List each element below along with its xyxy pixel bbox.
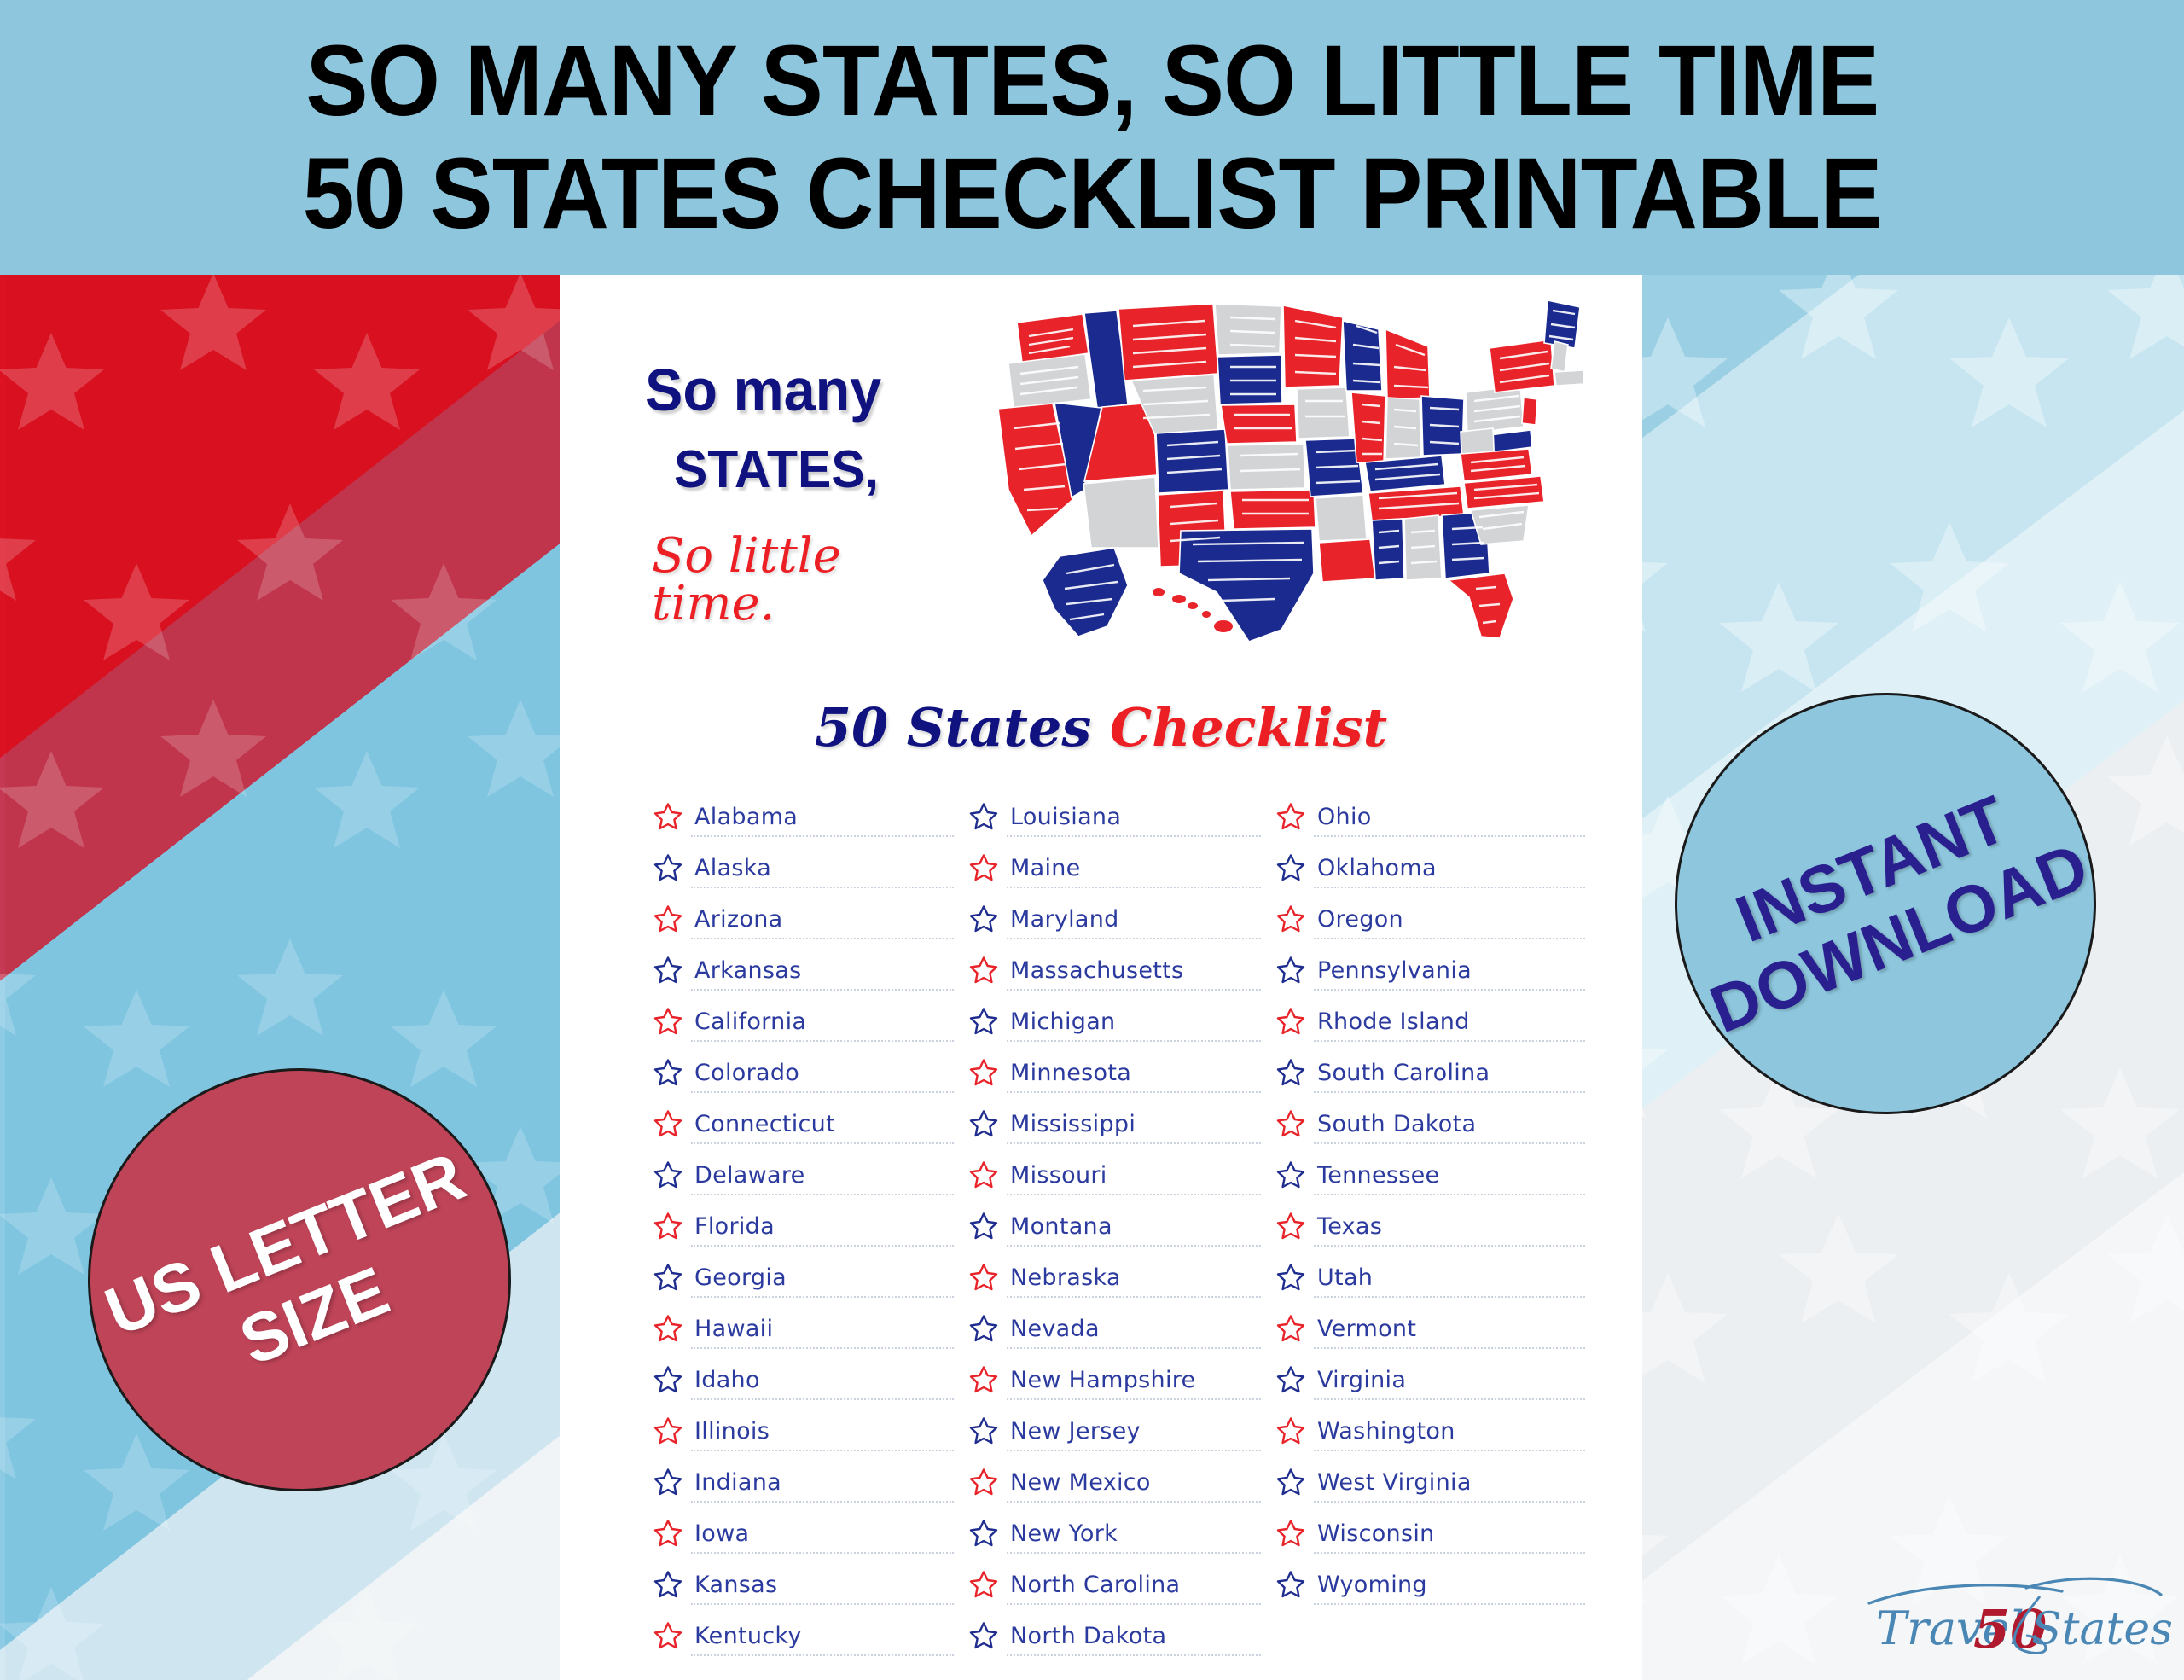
state-name-label: Alaska <box>694 855 771 881</box>
state-name-label: Nebraska <box>1010 1264 1121 1291</box>
state-name-label: California <box>694 1009 806 1035</box>
map-state-kentucky <box>1365 456 1445 491</box>
state-name-label: South Dakota <box>1317 1111 1476 1137</box>
star-checkbox-icon[interactable] <box>1276 1519 1305 1548</box>
state-name-label: Rhode Island <box>1317 1009 1470 1035</box>
checklist-row[interactable]: Tennessee <box>1276 1149 1600 1200</box>
star-checkbox-icon[interactable] <box>653 1314 682 1343</box>
map-state-minnesota <box>1283 305 1343 387</box>
map-state-arkansas <box>1316 495 1367 541</box>
star-checkbox-icon[interactable] <box>969 1058 998 1087</box>
star-checkbox-icon[interactable] <box>1276 1314 1305 1343</box>
checklist-row[interactable]: New York <box>969 1508 1276 1559</box>
checklist-row[interactable]: Utah <box>1276 1252 1600 1303</box>
state-name-label: Connecticut <box>694 1111 835 1137</box>
checklist-row[interactable]: Illinois <box>653 1405 969 1456</box>
star-checkbox-icon[interactable] <box>969 1314 998 1343</box>
star-checkbox-icon[interactable] <box>1276 904 1305 933</box>
checklist-row[interactable]: North Dakota <box>969 1610 1276 1661</box>
state-name-label: Alabama <box>694 804 798 830</box>
state-name-label: Massachusetts <box>1010 957 1183 984</box>
map-state-north-carolina <box>1464 476 1544 509</box>
checklist-row[interactable]: Pennsylvania <box>1276 945 1600 996</box>
state-name-label: Iowa <box>694 1520 749 1547</box>
star-checkbox-icon[interactable] <box>653 1007 682 1036</box>
checklist-heading-blue: 50 States <box>815 696 1110 759</box>
map-state-new-york <box>1490 340 1554 392</box>
state-name-label: Wyoming <box>1317 1572 1427 1598</box>
checklist-row[interactable]: Indiana <box>653 1456 969 1508</box>
star-checkbox-icon[interactable] <box>1276 1007 1305 1036</box>
tagline-line-2: STATES, <box>674 444 897 497</box>
us-letter-size-badge-text: US LETTER SIZE <box>95 1136 504 1423</box>
star-checkbox-icon[interactable] <box>653 1109 682 1138</box>
state-name-label: Utah <box>1317 1264 1373 1291</box>
checklist-column-2: LouisianaMaineMarylandMassachusettsMichi… <box>969 791 1276 1661</box>
checklist-row[interactable]: California <box>653 996 969 1047</box>
star-checkbox-icon[interactable] <box>969 1007 998 1036</box>
state-name-label: Montana <box>1010 1213 1112 1240</box>
star-checkbox-icon[interactable] <box>1276 853 1305 882</box>
map-state-virginia <box>1461 449 1532 481</box>
star-checkbox-icon[interactable] <box>969 802 998 831</box>
state-name-label: South Carolina <box>1317 1060 1490 1086</box>
star-checkbox-icon[interactable] <box>969 1212 998 1241</box>
map-state-michigan <box>1385 329 1430 399</box>
checklist-heading-red: Checklist <box>1110 696 1387 759</box>
checklist-row[interactable]: Wisconsin <box>1276 1508 1600 1559</box>
star-checkbox-icon[interactable] <box>969 1160 998 1189</box>
checklist-row[interactable]: Arkansas <box>653 945 969 996</box>
star-checkbox-icon[interactable] <box>969 956 998 985</box>
map-state-louisiana <box>1319 539 1375 582</box>
checklist-row[interactable]: Massachusetts <box>969 945 1276 996</box>
checklist-row[interactable]: Montana <box>969 1200 1276 1252</box>
checklist-row[interactable]: North Carolina <box>969 1559 1276 1610</box>
state-name-label: Florida <box>694 1213 775 1240</box>
state-name-label: Indiana <box>694 1469 781 1496</box>
star-checkbox-icon[interactable] <box>653 1621 682 1650</box>
star-checkbox-icon[interactable] <box>969 1570 998 1599</box>
logo-word-states: States <box>2031 1604 2171 1655</box>
state-name-label: Kentucky <box>694 1623 802 1649</box>
state-name-label: West Virginia <box>1317 1469 1472 1496</box>
checklist-row[interactable]: Vermont <box>1276 1303 1600 1354</box>
state-name-label: Hawaii <box>694 1316 773 1342</box>
state-name-label: New York <box>1010 1520 1118 1547</box>
checklist-row[interactable]: Texas <box>1276 1200 1600 1252</box>
checklist-row[interactable]: Idaho <box>653 1354 969 1405</box>
star-checkbox-icon[interactable] <box>969 1621 998 1650</box>
map-state-iowa <box>1297 387 1350 439</box>
star-checkbox-icon[interactable] <box>653 1468 682 1497</box>
state-name-label: New Mexico <box>1010 1469 1151 1496</box>
state-name-label: Illinois <box>694 1418 770 1445</box>
checklist-row[interactable]: Oregon <box>1276 893 1600 945</box>
star-checkbox-icon[interactable] <box>1276 1263 1305 1292</box>
star-checkbox-icon[interactable] <box>969 1365 998 1394</box>
map-state-alaska <box>1043 548 1128 637</box>
map-state-massachusetts <box>1554 370 1583 386</box>
star-checkbox-icon[interactable] <box>969 904 998 933</box>
star-checkbox-icon[interactable] <box>969 1263 998 1292</box>
map-state-colorado <box>1156 429 1228 493</box>
state-name-label: Washington <box>1317 1418 1455 1445</box>
checklist-row[interactable]: Alaska <box>653 842 969 893</box>
us-letter-size-badge[interactable]: US LETTER SIZE <box>88 1068 511 1491</box>
star-checkbox-icon[interactable] <box>653 1263 682 1292</box>
map-state-maine <box>1544 300 1580 348</box>
checklist-row[interactable]: Mississippi <box>969 1098 1276 1149</box>
star-checkbox-icon[interactable] <box>969 1519 998 1548</box>
checklist-row[interactable]: Kansas <box>653 1559 969 1610</box>
state-name-label: Louisiana <box>1010 804 1121 830</box>
star-checkbox-icon[interactable] <box>969 1468 998 1497</box>
checklist-row[interactable]: Arizona <box>653 893 969 945</box>
star-checkbox-icon[interactable] <box>653 904 682 933</box>
checklist-row[interactable]: Maryland <box>969 893 1276 945</box>
checklist-row[interactable]: Nevada <box>969 1303 1276 1354</box>
map-state-oklahoma <box>1230 490 1316 529</box>
checklist-row[interactable]: Missouri <box>969 1149 1276 1200</box>
checklist-row[interactable]: New Hampshire <box>969 1354 1276 1405</box>
state-name-label: Idaho <box>694 1367 760 1393</box>
star-checkbox-icon[interactable] <box>653 1570 682 1599</box>
star-checkbox-icon[interactable] <box>653 956 682 985</box>
state-name-label: New Hampshire <box>1010 1367 1195 1393</box>
poster-canvas: SO MANY STATES, SO LITTLE TIME 50 STATES… <box>0 0 2184 1680</box>
state-name-label: Pennsylvania <box>1317 957 1472 984</box>
star-checkbox-icon[interactable] <box>653 1058 682 1087</box>
state-name-label: Delaware <box>694 1162 805 1189</box>
checklist-row[interactable]: Oklahoma <box>1276 842 1600 893</box>
checklist-row[interactable]: Georgia <box>653 1252 969 1303</box>
state-name-label: Maryland <box>1010 906 1119 933</box>
checklist-row[interactable]: Delaware <box>653 1149 969 1200</box>
travel-50-states-logo: Travel 50 States <box>1864 1566 2171 1668</box>
printable-page-preview: So many STATES, So little time. <box>560 275 1642 1680</box>
star-checkbox-icon[interactable] <box>1276 956 1305 985</box>
map-state-montana <box>1118 304 1218 381</box>
star-checkbox-icon[interactable] <box>653 1365 682 1394</box>
checklist-column-1: AlabamaAlaskaArizonaArkansasCaliforniaCo… <box>653 791 969 1661</box>
map-state-kansas <box>1228 444 1305 490</box>
star-checkbox-icon[interactable] <box>653 1160 682 1189</box>
checklist-row[interactable]: Alabama <box>653 791 969 842</box>
star-checkbox-icon[interactable] <box>1276 1109 1305 1138</box>
map-state-mississippi <box>1372 519 1404 580</box>
logo-svg: Travel 50 States <box>1864 1566 2171 1668</box>
state-name-label: Oklahoma <box>1317 855 1437 881</box>
star-checkbox-icon[interactable] <box>1276 802 1305 831</box>
state-name-label: Kansas <box>694 1572 777 1598</box>
checklist-row[interactable]: Virginia <box>1276 1354 1600 1405</box>
checklist-column-3: OhioOklahomaOregonPennsylvaniaRhode Isla… <box>1276 791 1600 1661</box>
state-name-label: North Carolina <box>1010 1572 1180 1598</box>
star-checkbox-icon[interactable] <box>1276 1160 1305 1189</box>
checklist-heading: 50 States Checklist <box>560 701 1642 754</box>
map-state-arizona <box>1083 477 1159 548</box>
checklist-row[interactable]: West Virginia <box>1276 1456 1600 1508</box>
tagline-block: So many STATES, So little time. <box>645 360 909 628</box>
states-checklist: AlabamaAlaskaArizonaArkansasCaliforniaCo… <box>653 791 1600 1661</box>
usa-map-svg <box>978 292 1609 659</box>
state-name-label: Arizona <box>694 906 783 933</box>
checklist-row[interactable]: South Carolina <box>1276 1047 1600 1098</box>
star-checkbox-icon[interactable] <box>1276 1365 1305 1394</box>
checklist-row[interactable]: Colorado <box>653 1047 969 1098</box>
header-banner: SO MANY STATES, SO LITTLE TIME 50 STATES… <box>0 0 2184 275</box>
state-name-label: Michigan <box>1010 1009 1115 1035</box>
star-checkbox-icon[interactable] <box>969 853 998 882</box>
star-checkbox-icon[interactable] <box>1276 1058 1305 1087</box>
header-title-line-1: SO MANY STATES, SO LITTLE TIME <box>305 25 1879 137</box>
checklist-row[interactable]: Kentucky <box>653 1610 969 1661</box>
checklist-row[interactable]: Minnesota <box>969 1047 1276 1098</box>
state-name-label: North Dakota <box>1010 1623 1166 1649</box>
header-title-line-2: 50 STATES CHECKLIST PRINTABLE <box>303 137 1882 250</box>
state-name-label: Maine <box>1010 855 1081 881</box>
checklist-row[interactable]: Connecticut <box>653 1098 969 1149</box>
checklist-row[interactable]: Maine <box>969 842 1276 893</box>
instant-download-badge[interactable]: INSTANT DOWNLOAD <box>1675 693 2096 1114</box>
star-checkbox-icon[interactable] <box>653 802 682 831</box>
state-name-label: Texas <box>1317 1213 1382 1240</box>
star-checkbox-icon[interactable] <box>1276 1212 1305 1241</box>
checklist-row[interactable]: Wyoming <box>1276 1559 1600 1610</box>
state-name-label: Ohio <box>1317 804 1372 830</box>
checklist-row[interactable]: Iowa <box>653 1508 969 1559</box>
tagline-line-1: So many <box>645 360 897 420</box>
state-name-label: Tennessee <box>1317 1162 1439 1189</box>
star-checkbox-icon[interactable] <box>653 1519 682 1548</box>
state-name-label: Wisconsin <box>1317 1520 1435 1547</box>
state-name-label: Colorado <box>694 1060 799 1086</box>
map-state-new-hampshire <box>1551 341 1568 372</box>
star-checkbox-icon[interactable] <box>653 1416 682 1445</box>
checklist-row[interactable]: Michigan <box>969 996 1276 1047</box>
checklist-row[interactable]: New Jersey <box>969 1405 1276 1456</box>
usa-map-illustration <box>978 292 1609 659</box>
map-state-texas <box>1179 529 1314 642</box>
checklist-row[interactable]: Washington <box>1276 1405 1600 1456</box>
star-checkbox-icon[interactable] <box>1276 1416 1305 1445</box>
state-name-label: Mississippi <box>1010 1111 1136 1137</box>
state-name-label: Arkansas <box>694 957 801 984</box>
state-name-label: Virginia <box>1317 1367 1406 1393</box>
tagline-line-3: So little time. <box>652 532 909 628</box>
state-name-label: Georgia <box>694 1264 787 1291</box>
star-checkbox-icon[interactable] <box>969 1109 998 1138</box>
map-state-nebraska <box>1221 404 1297 444</box>
state-name-label: Vermont <box>1317 1316 1416 1342</box>
star-checkbox-icon[interactable] <box>969 1416 998 1445</box>
checklist-row[interactable]: Louisiana <box>969 791 1276 842</box>
state-name-label: New Jersey <box>1010 1418 1141 1445</box>
state-name-label: Minnesota <box>1010 1060 1131 1086</box>
map-state-new-jersey <box>1522 398 1537 425</box>
checklist-row[interactable]: Florida <box>653 1200 969 1252</box>
state-name-label: Oregon <box>1317 906 1403 933</box>
star-checkbox-icon[interactable] <box>653 1212 682 1241</box>
state-name-label: Missouri <box>1010 1162 1107 1189</box>
checklist-row[interactable]: South Dakota <box>1276 1098 1600 1149</box>
star-checkbox-icon[interactable] <box>1276 1570 1305 1599</box>
state-name-label: Nevada <box>1010 1316 1100 1342</box>
checklist-row[interactable]: Rhode Island <box>1276 996 1600 1047</box>
instant-download-badge-text: INSTANT DOWNLOAD <box>1672 759 2098 1047</box>
star-checkbox-icon[interactable] <box>653 853 682 882</box>
checklist-row[interactable]: Hawaii <box>653 1303 969 1354</box>
star-checkbox-icon[interactable] <box>1276 1468 1305 1497</box>
checklist-row[interactable]: Nebraska <box>969 1252 1276 1303</box>
checklist-row[interactable]: Ohio <box>1276 791 1600 842</box>
checklist-row[interactable]: New Mexico <box>969 1456 1276 1508</box>
